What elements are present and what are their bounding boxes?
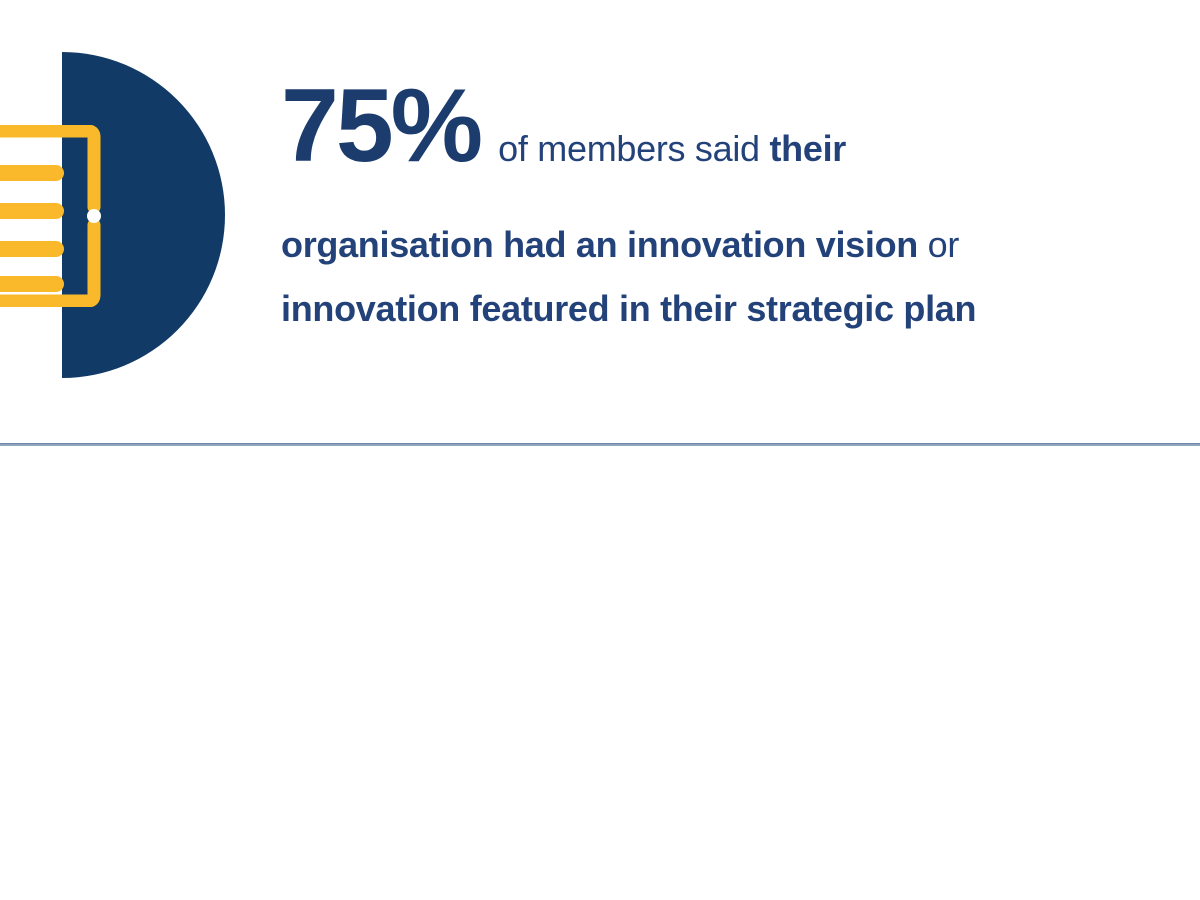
stat-block-board-agenda: 7% of members said that innovation never… (0, 446, 1200, 900)
stat-text-innovation-vision: 75% of members said their organisation h… (281, 74, 1181, 330)
stat-line-3: innovation featured in their strategic p… (281, 288, 1181, 330)
checklist-document-icon (0, 125, 140, 307)
stat-percentage-75: 75% (281, 74, 480, 178)
accent-dot-icon (87, 209, 101, 223)
line3-bold-text: innovation featured in their strategic p… (281, 288, 976, 329)
line2-bold-text: organisation had an innovation vision (281, 224, 918, 265)
checklist-icon-badge (0, 40, 240, 390)
stat-block-innovation-vision: 75% of members said their organisation h… (0, 0, 1200, 444)
lead-regular-text: of members said (498, 128, 760, 169)
lead-bold-text: their (769, 128, 846, 169)
stat-lead-text: of members said their (498, 131, 846, 167)
line2-regular-text: or (928, 224, 959, 265)
stat-lead-line: 75% of members said their (281, 74, 1181, 202)
infographic-page: 75% of members said their organisation h… (0, 0, 1200, 900)
stat-line-2: organisation had an innovation vision or (281, 224, 1181, 266)
